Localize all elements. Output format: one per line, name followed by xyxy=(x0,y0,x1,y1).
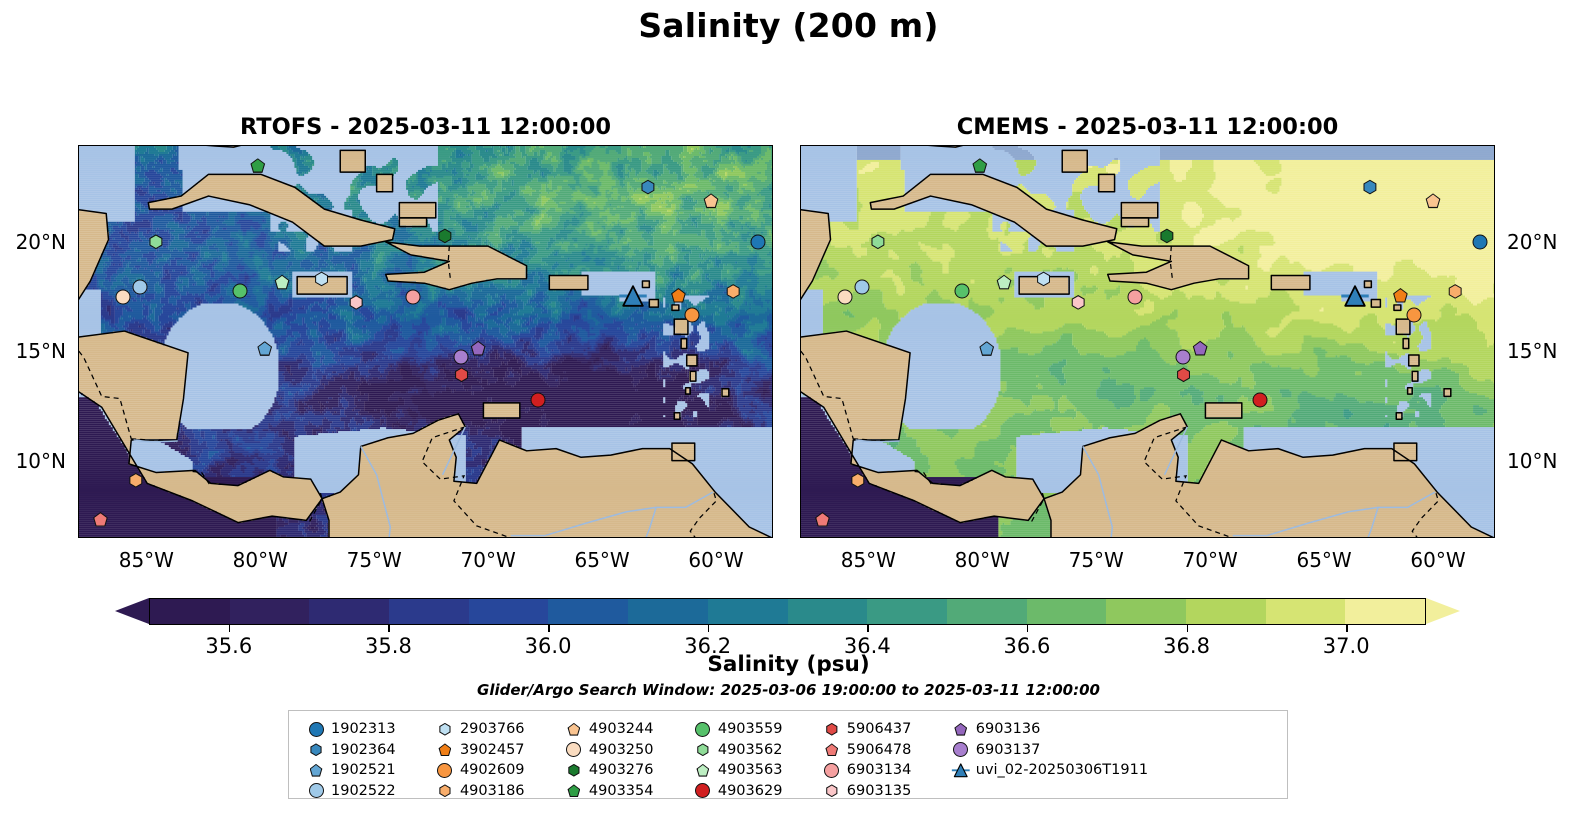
argo-float-marker[interactable] xyxy=(1448,284,1463,299)
colorbar-band-10 xyxy=(947,599,1027,624)
legend-label: 4903563 xyxy=(718,762,783,778)
legend-marker-pent-icon xyxy=(430,743,460,756)
legend-item[interactable]: 1902313 xyxy=(301,719,430,740)
y-tick-label: 20°N xyxy=(0,230,66,254)
legend-item[interactable]: 4903276 xyxy=(559,760,688,781)
colorbar-tick xyxy=(867,625,869,632)
x-tick-label: 80°W xyxy=(937,548,1027,572)
x-major-tick xyxy=(0,276,2,283)
colorbar-band-8 xyxy=(788,599,868,624)
colorbar-band-13 xyxy=(1186,599,1266,624)
legend-label: 4902609 xyxy=(460,762,525,778)
argo-float-marker[interactable] xyxy=(132,279,147,294)
colorbar-band-11 xyxy=(1027,599,1107,624)
argo-float-marker[interactable] xyxy=(1036,271,1051,286)
colorbar-tick xyxy=(388,625,390,632)
legend-marker-pent-icon xyxy=(817,743,847,756)
argo-float-marker[interactable] xyxy=(128,473,143,488)
colorbar-gradient xyxy=(149,598,1426,625)
legend-item[interactable]: 6903135 xyxy=(817,781,946,802)
legend-marker-circle-icon xyxy=(430,763,460,778)
argo-float-marker[interactable] xyxy=(437,228,452,243)
x-major-tick xyxy=(0,724,2,731)
legend-label: 4903559 xyxy=(718,721,783,737)
legend-marker-circle-icon xyxy=(688,722,718,737)
colorbar[interactable]: 35.635.836.036.236.436.636.837.0 xyxy=(115,598,1460,625)
legend-marker-hex-icon xyxy=(301,743,331,756)
argo-float-marker[interactable] xyxy=(275,275,290,290)
colorbar-tick xyxy=(548,625,550,632)
colorbar-under-arrow xyxy=(115,598,149,624)
x-major-tick xyxy=(0,703,2,710)
search-window-label: Glider/Argo Search Window: 2025-03-06 19… xyxy=(0,681,1577,699)
argo-float-marker[interactable] xyxy=(148,234,163,249)
legend-item[interactable]: 6903136 xyxy=(946,719,1148,740)
x-major-tick xyxy=(0,318,2,325)
legend-grid: 1902313190236419025211902522290376639024… xyxy=(301,719,1277,801)
legend-marker-hex-icon xyxy=(430,784,460,797)
legend-label: 6903137 xyxy=(976,742,1041,758)
argo-float-marker[interactable] xyxy=(870,234,885,249)
glider-marker[interactable] xyxy=(1340,283,1370,313)
x-major-tick xyxy=(0,717,2,724)
colorbar-tick xyxy=(1187,625,1189,632)
legend-item[interactable]: 3902457 xyxy=(430,740,559,761)
x-major-tick xyxy=(0,304,2,311)
legend-label: 1902364 xyxy=(331,742,396,758)
x-tick-label: 75°W xyxy=(1051,548,1141,572)
argo-float-marker[interactable] xyxy=(232,283,247,298)
argo-float-marker[interactable] xyxy=(531,393,546,408)
argo-float-marker[interactable] xyxy=(1176,367,1191,382)
argo-float-marker[interactable] xyxy=(454,367,469,382)
argo-float-marker[interactable] xyxy=(1128,289,1143,304)
colorbar-band-6 xyxy=(628,599,708,624)
colorbar-tick xyxy=(229,625,231,632)
legend-label: 6903134 xyxy=(847,762,912,778)
colorbar-band-14 xyxy=(1266,599,1346,624)
legend-item[interactable]: 5906478 xyxy=(817,740,946,761)
x-major-tick xyxy=(0,325,2,332)
argo-float-marker[interactable] xyxy=(684,307,699,322)
y-tick-label: 10°N xyxy=(1507,449,1577,473)
legend-label: 6903135 xyxy=(847,783,912,799)
argo-float-marker[interactable] xyxy=(1253,393,1268,408)
x-tick-label: 70°W xyxy=(1165,548,1255,572)
x-tick-label: 65°W xyxy=(1279,548,1369,572)
legend-marker-glider-icon xyxy=(946,762,976,779)
argo-float-marker[interactable] xyxy=(1393,288,1408,303)
legend-marker-hex-icon xyxy=(559,764,589,777)
argo-float-marker[interactable] xyxy=(1159,228,1174,243)
argo-float-marker[interactable] xyxy=(1175,350,1190,365)
argo-float-marker[interactable] xyxy=(1406,307,1421,322)
argo-float-marker[interactable] xyxy=(1426,193,1441,208)
argo-float-marker[interactable] xyxy=(93,512,108,527)
argo-float-marker[interactable] xyxy=(972,158,987,173)
x-tick-label: 75°W xyxy=(329,548,419,572)
legend-item[interactable]: 4903244 xyxy=(559,719,688,740)
legend-item[interactable]: 4903354 xyxy=(559,781,688,802)
legend-label: 4903276 xyxy=(589,762,654,778)
argo-float-marker[interactable] xyxy=(997,275,1012,290)
y-tick-label: 20°N xyxy=(1507,230,1577,254)
legend-label: 4903186 xyxy=(460,783,525,799)
legend-label: 4903244 xyxy=(589,721,654,737)
argo-float-marker[interactable] xyxy=(250,158,265,173)
legend-item[interactable]: 4902609 xyxy=(430,760,559,781)
map-panel-cmems[interactable] xyxy=(800,145,1495,538)
legend-marker-hex-icon xyxy=(688,743,718,756)
y-tick-label: 15°N xyxy=(0,339,66,363)
legend-item[interactable]: 1902521 xyxy=(301,760,430,781)
colorbar-band-5 xyxy=(548,599,628,624)
argo-float-marker[interactable] xyxy=(979,341,994,356)
legend-item[interactable]: 1902522 xyxy=(301,781,430,802)
colorbar-band-12 xyxy=(1106,599,1186,624)
argo-float-marker[interactable] xyxy=(815,512,830,527)
x-major-tick xyxy=(0,283,2,290)
legend-item[interactable]: uvi_02-20250306T1911 xyxy=(946,760,1148,781)
platform-legend[interactable]: 1902313190236419025211902522290376639024… xyxy=(288,710,1288,799)
legend-marker-hex-icon xyxy=(430,723,460,736)
x-major-tick xyxy=(0,255,2,262)
legend-item[interactable]: 4903563 xyxy=(688,760,817,781)
x-tick-label: 85°W xyxy=(101,548,191,572)
argo-float-marker[interactable] xyxy=(406,289,421,304)
legend-item[interactable]: 2903766 xyxy=(430,719,559,740)
legend-marker-circle-icon xyxy=(817,763,847,778)
argo-float-marker[interactable] xyxy=(257,341,272,356)
legend-item[interactable]: 4903629 xyxy=(688,781,817,802)
argo-float-marker[interactable] xyxy=(1193,341,1208,356)
colorbar-band-3 xyxy=(389,599,469,624)
legend-marker-hex-icon xyxy=(817,723,847,736)
colorbar-title: Salinity (psu) xyxy=(0,652,1577,677)
legend-label: 4903629 xyxy=(718,783,783,799)
legend-label: 1902521 xyxy=(331,762,396,778)
x-tick-label: 60°W xyxy=(1393,548,1483,572)
coastline-layer-cmems xyxy=(801,146,1494,538)
argo-float-marker[interactable] xyxy=(726,284,741,299)
argo-float-marker[interactable] xyxy=(954,283,969,298)
legend-item[interactable]: 6903137 xyxy=(946,740,1148,761)
argo-float-marker[interactable] xyxy=(1071,295,1086,310)
colorbar-tick xyxy=(1027,625,1029,632)
x-tick-label: 65°W xyxy=(557,548,647,572)
colorbar-band-9 xyxy=(867,599,947,624)
argo-float-marker[interactable] xyxy=(640,180,655,195)
legend-marker-circle-icon xyxy=(688,783,718,798)
x-tick-label: 60°W xyxy=(671,548,761,572)
map-panel-rtofs[interactable] xyxy=(78,145,773,538)
legend-label: 4903562 xyxy=(718,742,783,758)
legend-item[interactable]: 4903250 xyxy=(559,740,688,761)
legend-marker-pent-icon xyxy=(301,764,331,777)
y-tick-label: 15°N xyxy=(1507,339,1577,363)
legend-marker-circle-icon xyxy=(301,783,331,798)
legend-label: 3902457 xyxy=(460,742,525,758)
legend-label: uvi_02-20250306T1911 xyxy=(976,762,1148,778)
legend-item[interactable]: 5906437 xyxy=(817,719,946,740)
legend-item[interactable]: 1902364 xyxy=(301,740,430,761)
legend-marker-pent-icon xyxy=(559,723,589,736)
legend-label: 4903354 xyxy=(589,783,654,799)
x-major-tick xyxy=(0,262,2,269)
colorbar-over-arrow xyxy=(1426,598,1460,624)
panel-title-rtofs: RTOFS - 2025-03-11 12:00:00 xyxy=(78,114,773,140)
argo-float-marker[interactable] xyxy=(349,295,364,310)
legend-marker-circle-icon xyxy=(946,742,976,757)
colorbar-band-2 xyxy=(309,599,389,624)
x-major-tick xyxy=(0,710,2,717)
argo-float-marker[interactable] xyxy=(1473,234,1488,249)
colorbar-band-1 xyxy=(230,599,310,624)
argo-float-marker[interactable] xyxy=(1362,180,1377,195)
argo-float-marker[interactable] xyxy=(471,341,486,356)
legend-item[interactable]: 6903134 xyxy=(817,760,946,781)
y-major-tick xyxy=(0,796,7,798)
panel-title-cmems: CMEMS - 2025-03-11 12:00:00 xyxy=(800,114,1495,140)
x-major-tick xyxy=(0,269,2,276)
argo-float-marker[interactable] xyxy=(850,473,865,488)
legend-label: 2903766 xyxy=(460,721,525,737)
x-tick-label: 80°W xyxy=(215,548,305,572)
legend-label: 5906437 xyxy=(847,721,912,737)
x-major-tick xyxy=(0,297,2,304)
x-tick-label: 85°W xyxy=(823,548,913,572)
legend-label: 1902313 xyxy=(331,721,396,737)
argo-float-marker[interactable] xyxy=(453,350,468,365)
legend-marker-pent-icon xyxy=(688,764,718,777)
colorbar-band-0 xyxy=(150,599,230,624)
legend-label: 5906478 xyxy=(847,742,912,758)
legend-marker-hex-icon xyxy=(817,784,847,797)
legend-item[interactable]: 4903559 xyxy=(688,719,817,740)
legend-item[interactable]: 4903186 xyxy=(430,781,559,802)
legend-marker-pent-icon xyxy=(946,723,976,736)
colorbar-tick xyxy=(708,625,710,632)
legend-item[interactable]: 4903562 xyxy=(688,740,817,761)
x-tick-label: 70°W xyxy=(443,548,533,572)
legend-marker-circle-icon xyxy=(301,722,331,737)
colorbar-band-4 xyxy=(469,599,549,624)
argo-float-marker[interactable] xyxy=(854,279,869,294)
x-major-tick xyxy=(0,290,2,297)
x-major-tick xyxy=(0,311,2,318)
figure-title: Salinity (200 m) xyxy=(0,6,1577,45)
legend-label: 4903250 xyxy=(589,742,654,758)
legend-marker-circle-icon xyxy=(559,742,589,757)
legend-label: 6903136 xyxy=(976,721,1041,737)
argo-float-marker[interactable] xyxy=(751,234,766,249)
argo-float-marker[interactable] xyxy=(671,288,686,303)
colorbar-band-7 xyxy=(708,599,788,624)
legend-label: 1902522 xyxy=(331,783,396,799)
argo-float-marker[interactable] xyxy=(704,193,719,208)
argo-float-marker[interactable] xyxy=(838,290,853,305)
argo-float-marker[interactable] xyxy=(116,290,131,305)
argo-float-marker[interactable] xyxy=(314,271,329,286)
legend-marker-pent-icon xyxy=(559,784,589,797)
coastline-layer-rtofs xyxy=(79,146,772,538)
y-tick-label: 10°N xyxy=(0,449,66,473)
colorbar-tick xyxy=(1346,625,1348,632)
glider-marker[interactable] xyxy=(618,283,648,313)
colorbar-band-15 xyxy=(1345,599,1425,624)
